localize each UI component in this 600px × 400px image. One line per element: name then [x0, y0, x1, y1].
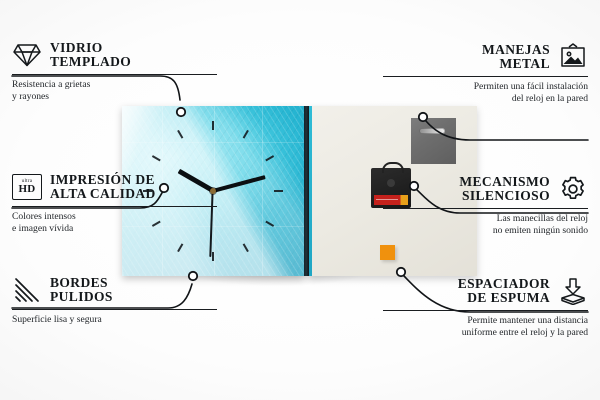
callout-description: Colores intensos e imagen vívida — [12, 211, 217, 234]
foam-spacer-arrow-icon — [558, 276, 588, 306]
callout-description: Superficie lisa y segura — [12, 314, 217, 326]
callout-title: IMPRESIÓN DE ALTA CALIDAD — [50, 173, 156, 202]
callout-title: MANEJAS METAL — [482, 43, 550, 72]
hour-tick — [177, 243, 183, 252]
hour-tick — [265, 155, 274, 161]
picture-frame-hanging-icon — [558, 42, 588, 72]
hour-tick — [243, 130, 249, 139]
foam-spacer — [380, 245, 395, 260]
callout-divider — [12, 74, 217, 75]
callout-description: Las manecillas del reloj no emiten ningú… — [383, 213, 588, 236]
callout-title: MECANISMO SILENCIOSO — [459, 175, 550, 204]
callout-description: Permite mantener una distancia uniforme … — [383, 315, 588, 338]
callout-manejas-metal[interactable]: MANEJAS METAL Permiten una fácil instala… — [383, 42, 588, 104]
hour-tick — [212, 121, 214, 130]
callout-title: VIDRIO TEMPLADO — [50, 41, 131, 70]
mechanism-hook — [382, 162, 404, 173]
callout-divider — [383, 76, 588, 77]
callout-header: ESPACIADOR DE ESPUMA — [383, 276, 588, 306]
hour-tick — [265, 221, 274, 227]
callout-bordes-pulidos[interactable]: BORDES PULIDOS Superficie lisa y segura — [12, 275, 217, 326]
callout-title: ESPACIADOR DE ESPUMA — [458, 277, 550, 306]
callout-divider — [12, 206, 217, 207]
gear-icon — [558, 174, 588, 204]
polished-edge-lines-icon — [12, 275, 42, 305]
callout-vidrio-templado[interactable]: VIDRIO TEMPLADO Resistencia a grietas y … — [12, 40, 217, 102]
callout-impresion-alta-calidad[interactable]: ultra HD IMPRESIÓN DE ALTA CALIDAD Color… — [12, 172, 217, 234]
callout-header: VIDRIO TEMPLADO — [12, 40, 217, 70]
callout-header: MANEJAS METAL — [383, 42, 588, 72]
callout-header: MECANISMO SILENCIOSO — [383, 174, 588, 204]
hour-tick — [243, 243, 249, 252]
clock-minute-hand — [212, 175, 265, 193]
callout-divider — [383, 208, 588, 209]
ultra-hd-icon: ultra HD — [12, 172, 42, 202]
callout-espaciador-espuma[interactable]: ESPACIADOR DE ESPUMA Permite mantener un… — [383, 276, 588, 338]
callout-description: Permiten una fácil instalación del reloj… — [383, 81, 588, 104]
callout-description: Resistencia a grietas y rayones — [12, 79, 217, 102]
callout-header: ultra HD IMPRESIÓN DE ALTA CALIDAD — [12, 172, 217, 202]
infographic-canvas: VIDRIO TEMPLADO Resistencia a grietas y … — [0, 0, 600, 400]
diamond-icon — [12, 40, 42, 70]
callout-header: BORDES PULIDOS — [12, 275, 217, 305]
callout-title: BORDES PULIDOS — [50, 276, 113, 305]
hour-tick — [212, 252, 214, 261]
callout-mecanismo-silencioso[interactable]: MECANISMO SILENCIOSO Las manecillas del … — [383, 174, 588, 236]
hour-tick — [152, 155, 161, 161]
callout-divider — [12, 309, 217, 310]
hour-tick — [177, 130, 183, 139]
callout-divider — [383, 310, 588, 311]
metal-hanger-plate — [411, 118, 456, 164]
hour-tick — [274, 190, 283, 192]
